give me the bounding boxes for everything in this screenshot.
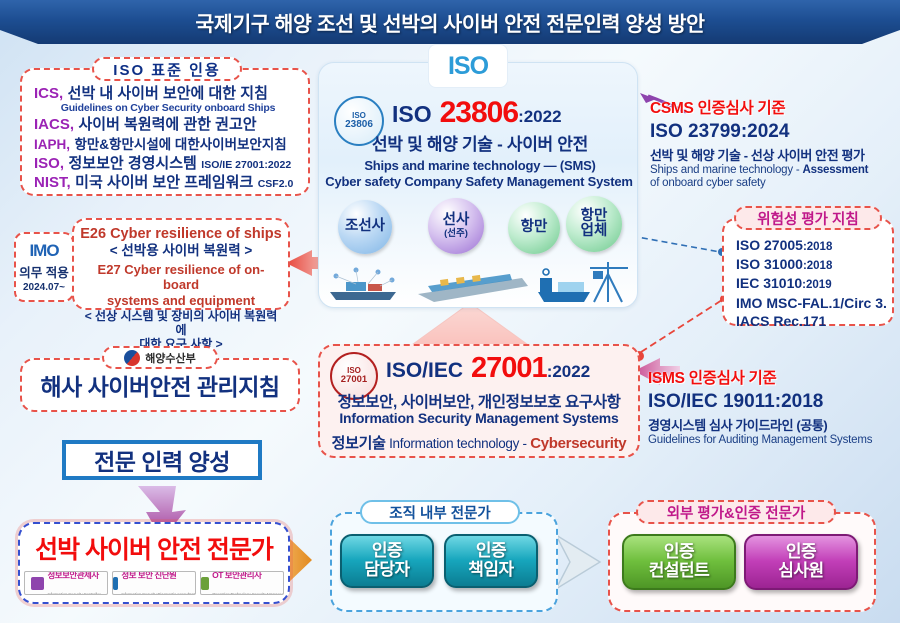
std-item-3: IAPH, 항만&항만시설에 대한사이버보안지침 (34, 137, 302, 153)
iso-27001-korean: 정보보안, 사이버보안, 개인정보보호 요구사항 (322, 390, 636, 412)
risk-caption-label: 위험성 평가 지침 (757, 208, 858, 229)
page-title-banner: 국제기구 해양 조선 및 선박의 사이버 안전 전문인력 양성 방안 (0, 0, 900, 44)
iso-27001-mix-cybersecurity: Cybersecurity (530, 435, 626, 452)
risk-panel: ISO 27005:2018 ISO 31000:2018 IEC 31010:… (722, 218, 894, 326)
internal-experts-caption: 조직 내부 전문가 (360, 500, 520, 524)
risk-item-1: ISO 27005:2018 (736, 236, 887, 255)
risk-item-name: IEC 31010 (736, 275, 802, 291)
isms-code: ISO/IEC 19011 (648, 391, 775, 412)
training-label: 전문 인력 양성 (94, 443, 230, 477)
csms-english-1: Ships and marine technology - Assessment (650, 164, 898, 177)
maritime-illustration (322, 254, 634, 308)
actor-label: 항만 (521, 220, 548, 235)
role-certification-manager: 인증 책임자 (444, 534, 538, 588)
iso-23806-number: 23806 (440, 96, 518, 130)
training-box: 전문 인력 양성 (62, 440, 262, 480)
iso-standards-caption-label: ISO 표준 인용 (113, 59, 220, 80)
std-sub-1: Guidelines on Cyber Security onboard Shi… (34, 102, 302, 114)
role-line-1: 인증 (664, 543, 694, 562)
csms-info: CSMS 인증심사 기준 ISO 23799:2024 선박 및 해양 기술 -… (650, 96, 898, 190)
isms-info: ISMS 인증심사 기준 ISO/IEC 19011:2018 경영시스템 심사… (648, 366, 898, 447)
iso-27001-mix-korean: 정보기술 (332, 435, 386, 452)
risk-item-name: ISO 27005 (736, 237, 803, 253)
iso-27001-number: 2700 (471, 352, 532, 385)
risk-item-name: IACS Rec.171 (736, 313, 826, 329)
role-certification-auditor: 인증 심사원 (744, 534, 858, 590)
leader-23806-to-risk (624, 232, 727, 257)
std-key: IACS, (34, 116, 74, 133)
isms-heading: ISMS 인증심사 기준 (648, 366, 898, 388)
risk-item-name: IMO MSC-FAL.1/Circ 3. (736, 295, 887, 311)
iso-27001-english: Information Security Management Systems (322, 410, 636, 426)
std-item-4: ISO, 정보보안 경영시스템 ISO/IE 27001:2022 (34, 156, 302, 172)
actor-port-company: 항만 업체 (566, 196, 622, 252)
risk-item-year: :2019 (802, 279, 831, 291)
csms-english-1-text: Ships and marine technology - (650, 164, 803, 176)
std-item-1: ICS, 선박 내 사이버 보안에 대한 지침 (34, 86, 302, 102)
role-certification-consultant: 인증 컨설턴트 (622, 534, 736, 590)
cert-label: 정보 보안 진단원 (121, 571, 176, 580)
risk-item-5: IACS Rec.171 (736, 312, 887, 330)
iso-23806-english-1-text: Ships and marine technology — (SMS) (364, 158, 595, 173)
risk-item-name: ISO 31000 (736, 256, 803, 272)
role-line-1: 인증 (476, 542, 506, 561)
iso-23806-english-1: Ships and marine technology — (SMS) (324, 158, 636, 174)
std-item-5: NIST, 미국 사이버 보안 프레임워크 CSF2.0 (34, 175, 302, 191)
page-title: 국제기구 해양 조선 및 선박의 사이버 안전 전문인력 양성 방안 (195, 7, 704, 37)
imo-date-label: 2024.07~ (23, 282, 65, 293)
e27-title-2: systems and equipment (80, 293, 282, 309)
risk-caption: 위험성 평가 지침 (734, 206, 882, 230)
arrow-internal-to-external (556, 535, 600, 589)
external-experts-caption: 외부 평가&인증 전문가 (636, 500, 836, 524)
std-text: 미국 사이버 보안 프레임워크 (75, 174, 253, 191)
cert-sub-label: Information Security Controller (47, 592, 100, 595)
std-key: ICS, (34, 85, 63, 102)
cert-icon (31, 577, 44, 590)
iso-23806-english-2: Cyber safety Company Safety Management S… (318, 174, 640, 190)
std-text: 정보보안 경영시스템 (68, 155, 196, 172)
iso-27001-mix-english: Information technology - (386, 436, 531, 451)
seal-label-number: 27001 (341, 375, 367, 385)
risk-item-year: :2018 (803, 260, 832, 272)
cert-sub-label: Operation Technology Security Manager (212, 592, 283, 595)
risk-item-year: :2018 (803, 241, 832, 253)
role-certification-officer: 인증 담당자 (340, 534, 434, 588)
cert-sub-label: Information Security Diagnostic consulta… (121, 592, 195, 595)
expert-panel: 선박 사이버 안전 전문가 정보보안관제사 Information Securi… (18, 522, 290, 604)
diagram-canvas: 국제기구 해양 조선 및 선박의 사이버 안전 전문인력 양성 방안 (0, 0, 900, 623)
iso-23806-english-2-text: Cyber safety Company Safety Management S… (325, 174, 632, 189)
role-line-2: 컨설턴트 (649, 562, 710, 581)
isms-english: Guidelines for Auditing Management Syste… (648, 434, 898, 447)
iso-27001-year: :2022 (547, 362, 590, 382)
cert-icon (113, 577, 118, 590)
e27-title: E27 Cyber resilience of on-board (80, 262, 282, 293)
std-mini: CSF2.0 (258, 178, 294, 190)
iso-standards-caption: ISO 표준 인용 (92, 57, 242, 81)
e27-korean: < 선상 시스템 및 장비의 사이버 복원력에 (80, 309, 282, 338)
mof-ministry-badge: 해양수산부 (102, 346, 218, 369)
iso-27001-title-row: ISO/IEC 27001 :2022 (386, 352, 636, 385)
leader-27001-to-risk (634, 295, 728, 361)
role-line-2: 담당자 (364, 561, 409, 580)
csms-korean: 선박 및 해양 기술 - 선상 사이버 안전 평가 (650, 145, 898, 164)
resilience-panel: E26 Cyber resilience of ships < 선박용 사이버 … (72, 218, 290, 310)
actor-label: 선사 (443, 213, 470, 228)
actor-label: 조선사 (345, 219, 385, 234)
actor-label: 항만 (581, 209, 608, 224)
role-line-2: 심사원 (778, 562, 823, 581)
csms-english-1-bold: Assessment (803, 164, 869, 176)
iso-23806-title-row: ISO 23806 :2022 (392, 96, 632, 130)
role-line-1: 인증 (786, 543, 816, 562)
std-key: ISO, (34, 155, 64, 172)
e26-title: E26 Cyber resilience of ships (80, 226, 282, 243)
std-text: 사이버 복원력에 관한 권고안 (78, 116, 256, 133)
actor-port: 항만 (508, 202, 560, 254)
internal-experts-caption-label: 조직 내부 전문가 (389, 502, 490, 523)
isms-year: :2018 (775, 391, 824, 412)
iso-logo-chip: ISO (428, 44, 508, 88)
actor-shipbuilder: 조선사 (338, 200, 392, 254)
cert-icon (201, 577, 209, 590)
actor-shipowner: 선사 (선주) (428, 198, 484, 254)
risk-item-3: IEC 31010:2019 (736, 274, 887, 293)
actor-sub-label: 업체 (581, 224, 608, 239)
mof-title: 해사 사이버안전 관리지침 (40, 368, 279, 402)
imo-mandatory-label: 의무 적용 (19, 262, 68, 281)
iso-standards-panel: ICS, 선박 내 사이버 보안에 대한 지침 Guidelines on Cy… (20, 68, 310, 196)
iso-23806-year: :2022 (518, 107, 561, 127)
iso-27001-prefix: ISO/IEC (386, 359, 463, 383)
csms-english-2: of onboard cyber safety (650, 177, 898, 190)
std-text: 항만&항만시설에 대한사이버보안지침 (74, 137, 286, 152)
cert-badge-2: 정보 보안 진단원 Information Security Diagnosti… (112, 571, 196, 595)
std-text: 선박 내 사이버 보안에 대한 지침 (68, 85, 268, 102)
cert-label: 정보보안관제사 (47, 571, 98, 580)
external-experts-caption-label: 외부 평가&인증 전문가 (667, 502, 806, 523)
risk-item-2: ISO 31000:2018 (736, 255, 887, 274)
mof-taegeuk-icon (124, 350, 140, 366)
seal-label-number: 23806 (345, 120, 373, 130)
expert-title: 선박 사이버 안전 전문가 (20, 530, 288, 566)
csms-code: ISO 23799 (650, 121, 741, 142)
csms-heading: CSMS 인증심사 기준 (650, 96, 898, 118)
actor-sub-label: (선주) (444, 229, 468, 239)
imo-badge: IMO 의무 적용 2024.07~ (14, 232, 74, 302)
cert-badge-1: 정보보안관제사 Information Security Controller (24, 571, 108, 595)
cert-badge-3: OT 보안관리사 Operation Technology Security M… (200, 571, 284, 595)
iso-logo-text: ISO (448, 52, 488, 81)
iso-27001-number-one: 1 (532, 352, 547, 385)
role-line-2: 책임자 (468, 561, 513, 580)
std-key: IAPH, (34, 137, 70, 152)
mof-ministry-label: 해양수산부 (145, 350, 196, 366)
risk-item-4: IMO MSC-FAL.1/Circ 3. (736, 294, 887, 312)
iso-27001-mix-line: 정보기술 Information technology - Cybersecur… (320, 432, 638, 453)
e26-korean: < 선박용 사이버 복원력 > (80, 243, 282, 259)
std-item-2: IACS, 사이버 복원력에 관한 권고안 (34, 117, 302, 133)
csms-year: :2024 (741, 121, 790, 142)
isms-korean: 경영시스템 심사 가이드라인 (공통) (648, 415, 898, 434)
std-mini: ISO/IE 27001:2022 (201, 159, 291, 171)
cert-label: OT 보안관리사 (212, 571, 261, 580)
iso-23806-prefix: ISO (392, 101, 432, 128)
iso-23806-korean: 선박 및 해양 기술 - 사이버 안전 (330, 130, 630, 155)
imo-logo: IMO (29, 241, 58, 261)
role-line-1: 인증 (372, 542, 402, 561)
std-key: NIST, (34, 174, 71, 191)
